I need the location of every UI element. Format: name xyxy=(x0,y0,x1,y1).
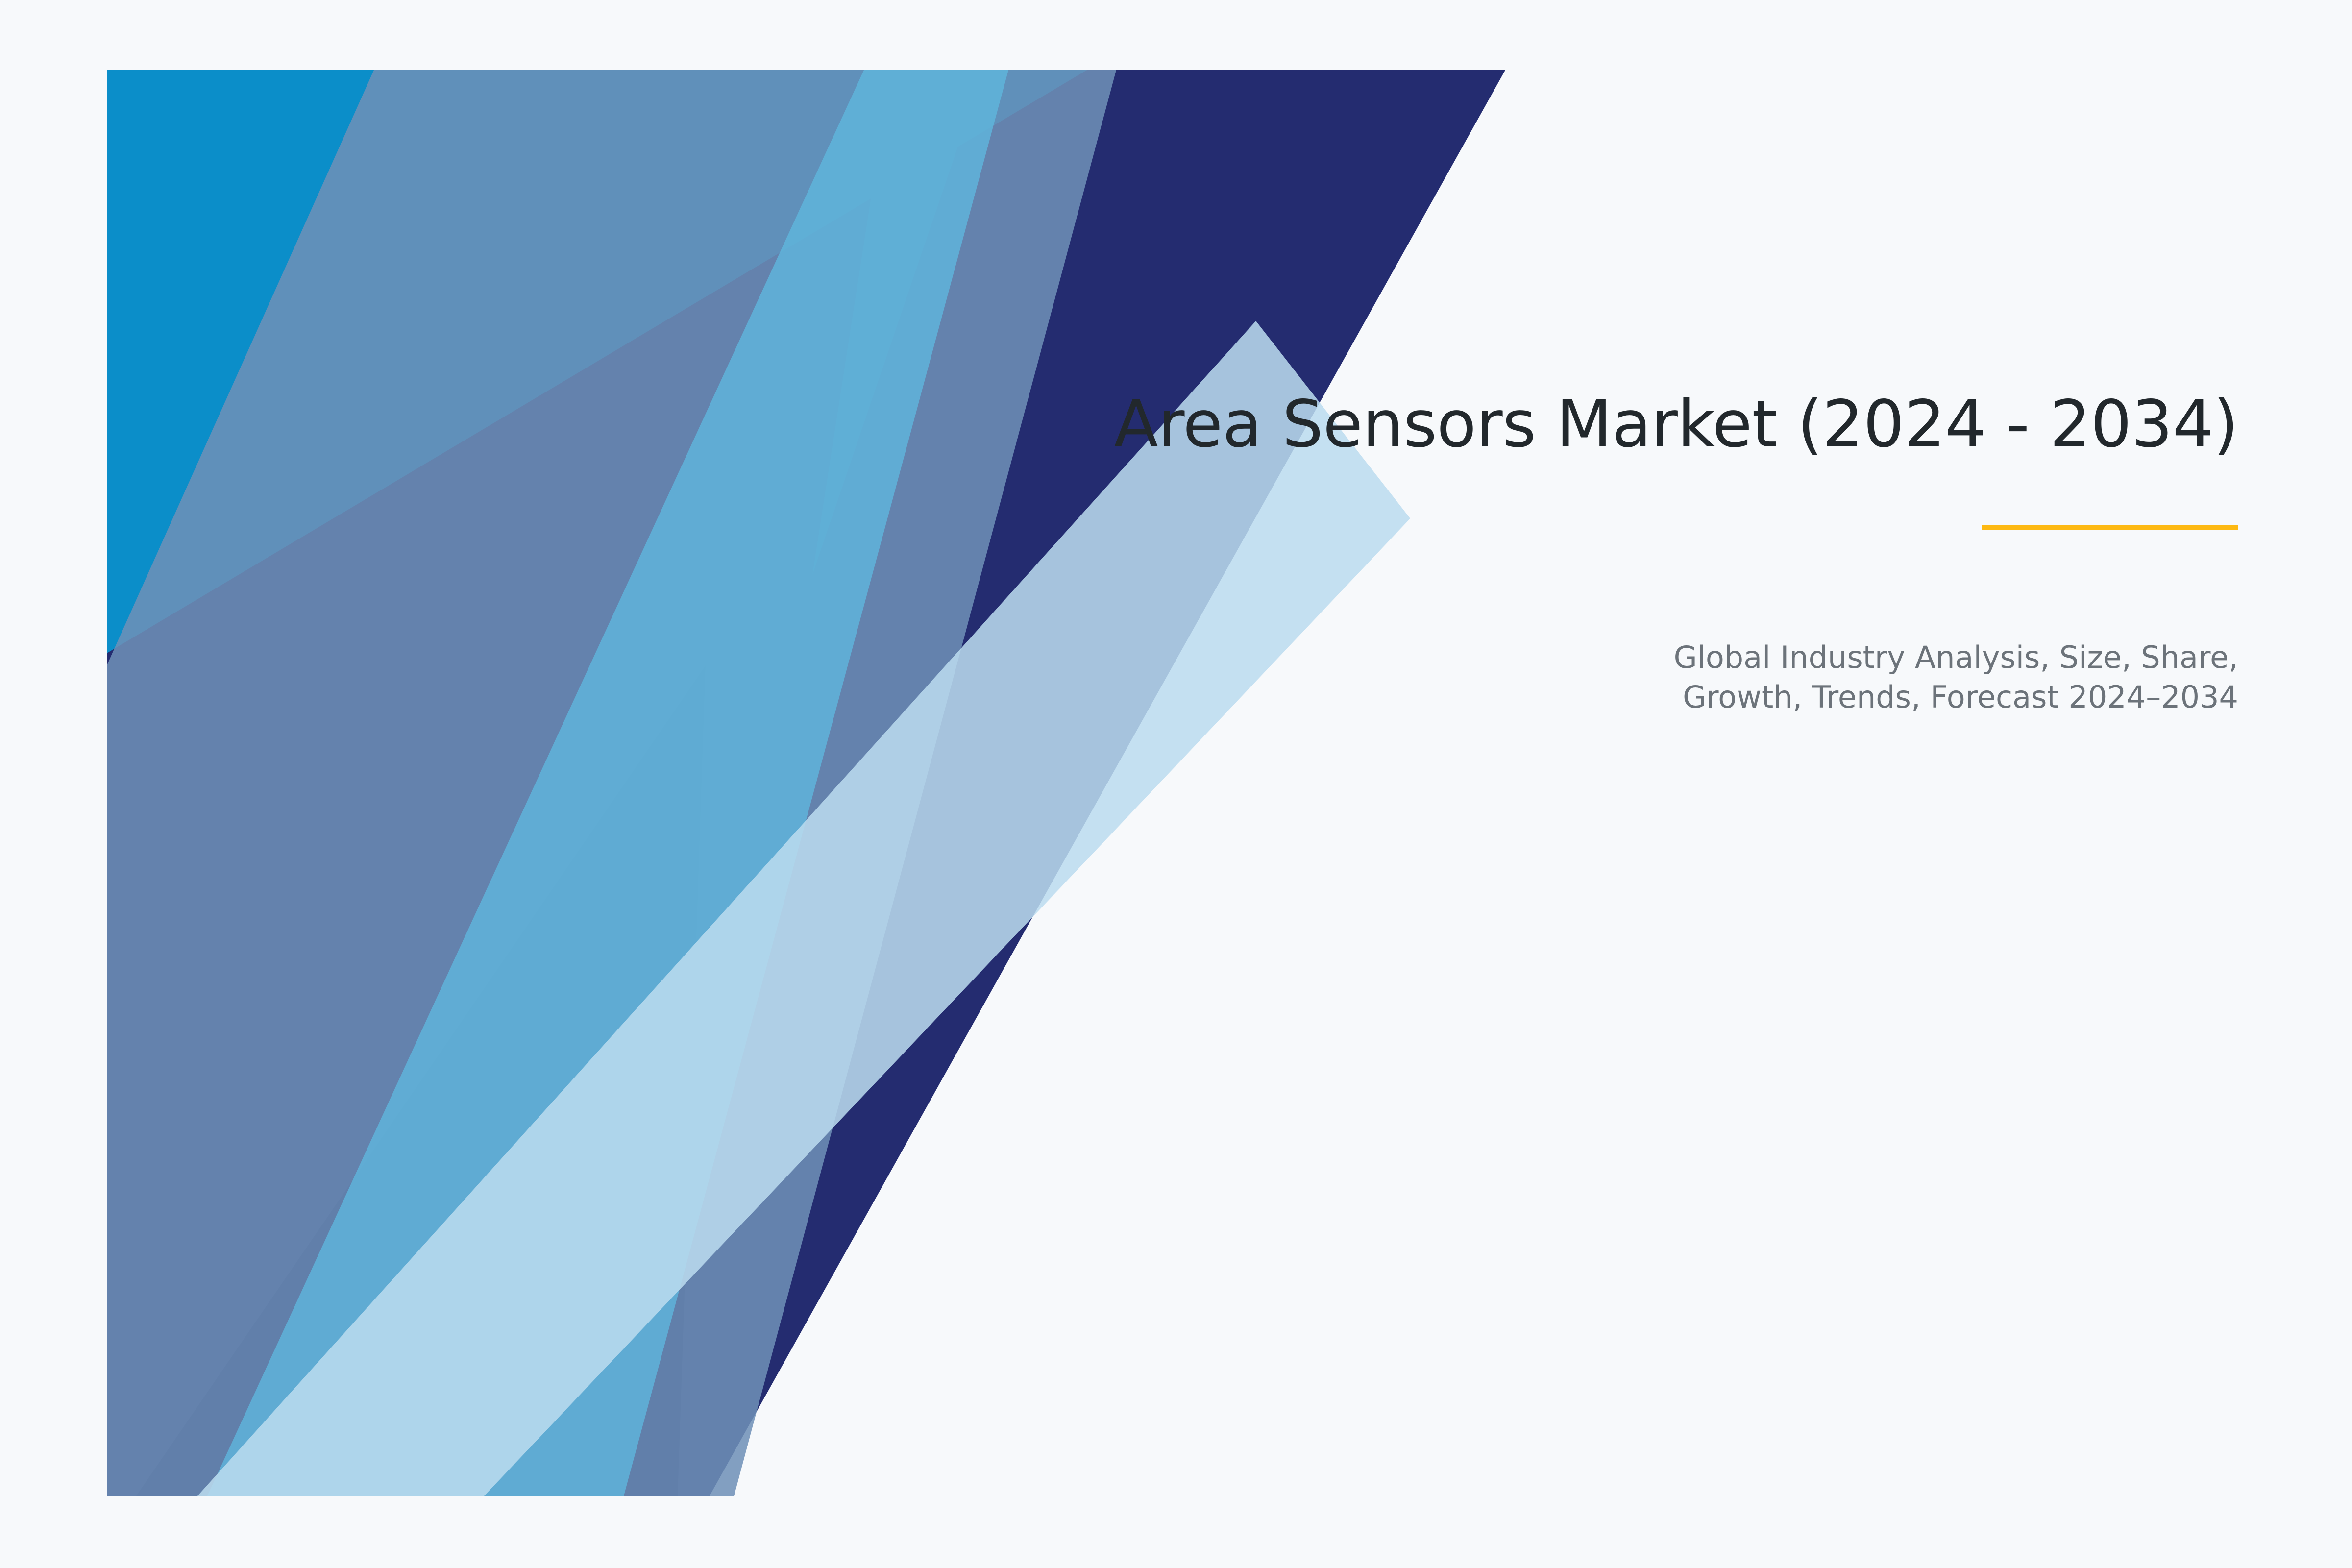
accent-rule xyxy=(1982,525,2238,530)
artwork-svg xyxy=(107,70,1506,1496)
cover-artwork xyxy=(107,70,1506,1496)
page-subtitle: Global Industry Analysis, Size, Share, G… xyxy=(1611,638,2238,717)
report-cover: Area Sensors Market (2024 - 2034) Global… xyxy=(0,0,2352,1568)
